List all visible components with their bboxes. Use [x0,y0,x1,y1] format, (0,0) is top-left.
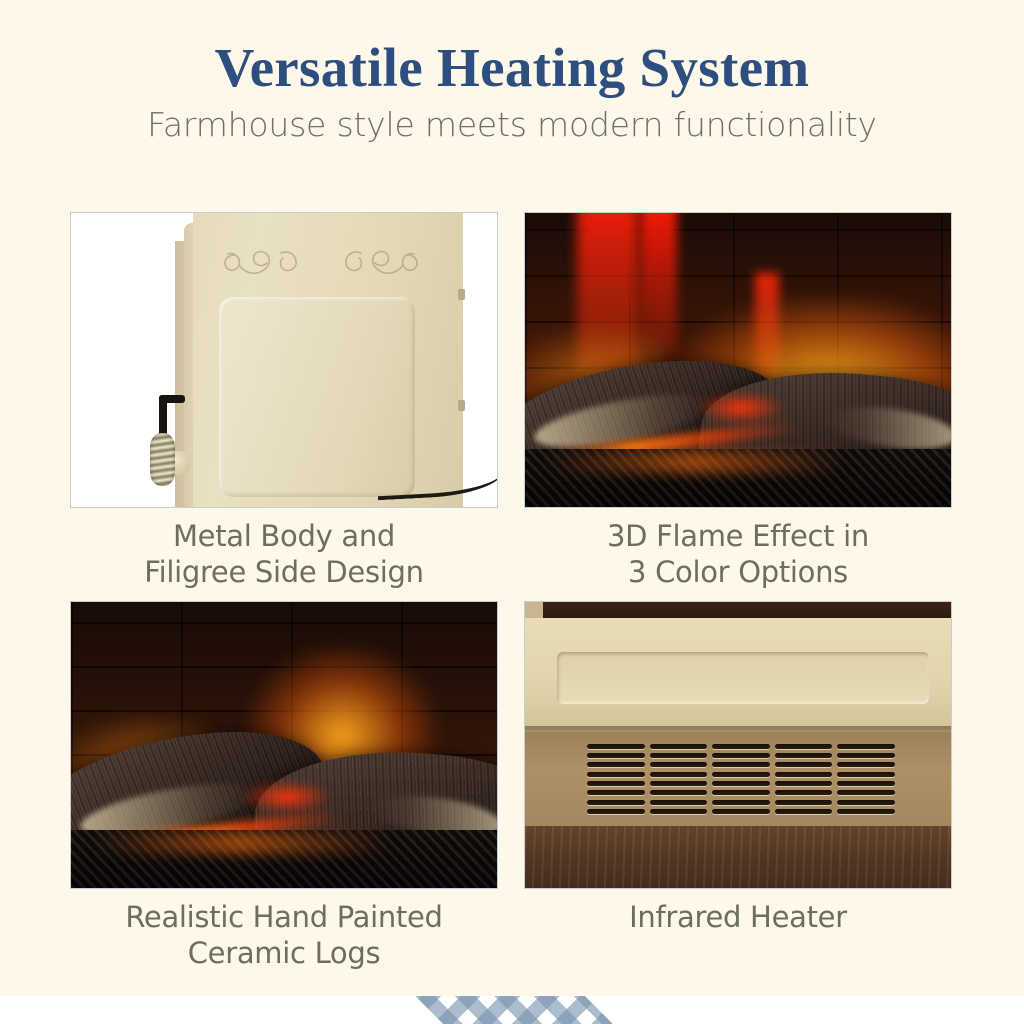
coal-bed [71,830,497,888]
vent-slot [775,790,833,795]
vent-slot [587,762,645,767]
vent-slot [587,772,645,777]
vent-slot [650,800,708,805]
stove-front-panel [525,618,952,728]
vent-slot [650,790,708,795]
coal-glow [545,451,845,473]
vent-slot [587,800,645,805]
feature-image-metal-body [70,212,498,508]
vent-slot [775,800,833,805]
feature-card-flame-effect: 3D Flame Effect in 3 Color Options [524,212,952,591]
recessed-trim-panel [557,652,929,704]
page-title: Versatile Heating System [0,38,1024,97]
feature-row-top: Metal Body and Filigree Side Design [70,212,952,591]
caption-line-1: Infrared Heater [524,900,952,936]
vent-slot [775,781,833,786]
side-fastener-top [458,289,465,300]
vent-column [712,744,770,814]
vent-slot [587,753,645,758]
coal-glow [91,832,391,854]
side-fastener-bottom [458,400,465,411]
header: Versatile Heating System Farmhouse style… [0,0,1024,144]
caption-line-2: Filigree Side Design [70,555,498,591]
vent-slot [775,772,833,777]
vent-slot [712,809,770,814]
vent-slot [837,753,895,758]
heater-vent-grille [587,744,895,814]
vent-slot [837,762,895,767]
ember-hotspot [241,780,333,814]
vent-slot [712,781,770,786]
feature-caption-ceramic-logs: Realistic Hand Painted Ceramic Logs [70,889,498,972]
feature-image-ceramic-logs [70,601,498,889]
coal-bed [525,449,951,507]
caption-line-2: 3 Color Options [524,555,952,591]
vent-slot [837,781,895,786]
caption-line-1: Realistic Hand Painted [70,900,498,936]
ember-hotspot [695,391,787,425]
feature-card-infrared-heater: Infrared Heater [524,601,952,972]
feature-grid: Metal Body and Filigree Side Design [70,212,952,972]
vent-slot [587,744,645,749]
vent-slot [712,744,770,749]
vent-column [775,744,833,814]
vent-column [587,744,645,814]
vent-slot [650,781,708,786]
vent-slot [712,800,770,805]
vent-slot [650,772,708,777]
handle-rod-vertical [159,395,167,437]
vent-slot [837,772,895,777]
feature-row-bottom: Realistic Hand Painted Ceramic Logs [70,601,952,972]
caption-line-1: 3D Flame Effect in [524,519,952,555]
coiled-spring-grip [150,433,175,486]
vent-slot [587,781,645,786]
feature-caption-flame-effect: 3D Flame Effect in 3 Color Options [524,508,952,591]
vent-slot [712,753,770,758]
wood-floor [525,826,952,888]
vent-slot [712,772,770,777]
caption-line-1: Metal Body and [70,519,498,555]
vent-slot [587,809,645,814]
caption-line-2: Ceramic Logs [70,936,498,972]
vent-slot [837,744,895,749]
vent-slot [775,809,833,814]
vent-slot [775,762,833,767]
feature-caption-infrared-heater: Infrared Heater [524,889,952,936]
vent-column [837,744,895,814]
gingham-footer-border [0,996,1024,1024]
vent-slot [650,809,708,814]
vent-slot [712,790,770,795]
power-cord [376,456,498,501]
feature-caption-metal-body: Metal Body and Filigree Side Design [70,508,498,591]
vent-slot [650,753,708,758]
vent-slot [775,753,833,758]
vent-slot [712,762,770,767]
page-subtitle: Farmhouse style meets modern functionali… [0,105,1024,144]
vent-slot [650,744,708,749]
feature-image-flame-effect [524,212,952,508]
vent-column [650,744,708,814]
lower-vent-bay [525,732,952,828]
vent-slot [837,809,895,814]
vent-slot [587,790,645,795]
vent-slot [837,800,895,805]
feature-image-infrared-heater [524,601,952,889]
filigree-scrollwork-icon [221,233,421,287]
feature-card-metal-body: Metal Body and Filigree Side Design [70,212,498,591]
feature-card-ceramic-logs: Realistic Hand Painted Ceramic Logs [70,601,498,972]
vent-slot [650,762,708,767]
vent-slot [775,744,833,749]
vent-slot [837,790,895,795]
